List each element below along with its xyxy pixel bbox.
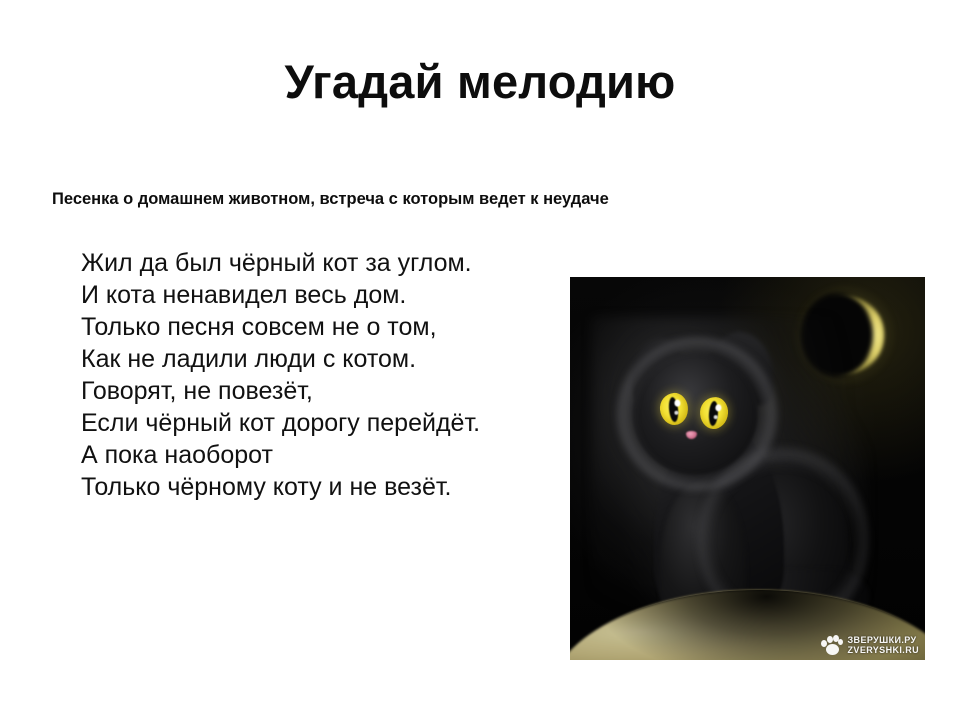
lyrics-block: Жил да был чёрный кот за углом. И кота н… bbox=[81, 247, 481, 503]
lyrics-line: Только песня совсем не о том, bbox=[81, 311, 481, 343]
cat-eye-glint-left bbox=[674, 399, 681, 407]
slide-subtitle: Песенка о домашнем животном, встреча с к… bbox=[52, 189, 872, 210]
page-title: Угадай мелодию bbox=[0, 56, 960, 108]
lyrics-line: Жил да был чёрный кот за углом. bbox=[81, 247, 481, 279]
slide-canvas: Угадай мелодию Песенка о домашнем животн… bbox=[0, 0, 960, 720]
black-cat-image: ЗВЕРУШКИ.РУ ZVERYSHKI.RU bbox=[570, 277, 925, 660]
cat-figure bbox=[606, 331, 856, 631]
lyrics-line: Говорят, не повезёт, bbox=[81, 375, 481, 407]
cat-head-fur-halo bbox=[616, 337, 778, 491]
cat-eye-glint-right bbox=[715, 404, 721, 411]
lyrics-line: Только чёрному коту и не везёт. bbox=[81, 471, 481, 503]
watermark-line-ru: ЗВЕРУШКИ.РУ bbox=[848, 635, 919, 645]
image-watermark: ЗВЕРУШКИ.РУ ZVERYSHKI.RU bbox=[821, 635, 919, 655]
lyrics-line: Как не ладили люди с котом. bbox=[81, 343, 481, 375]
lyrics-line: Если чёрный кот дорогу перейдёт. bbox=[81, 407, 481, 439]
lyrics-line: А пока наоборот bbox=[81, 439, 481, 471]
watermark-line-latin: ZVERYSHKI.RU bbox=[848, 645, 919, 655]
paw-print-icon bbox=[821, 635, 843, 655]
watermark-text: ЗВЕРУШКИ.РУ ZVERYSHKI.RU bbox=[848, 635, 919, 655]
lyrics-line: И кота ненавидел весь дом. bbox=[81, 279, 481, 311]
